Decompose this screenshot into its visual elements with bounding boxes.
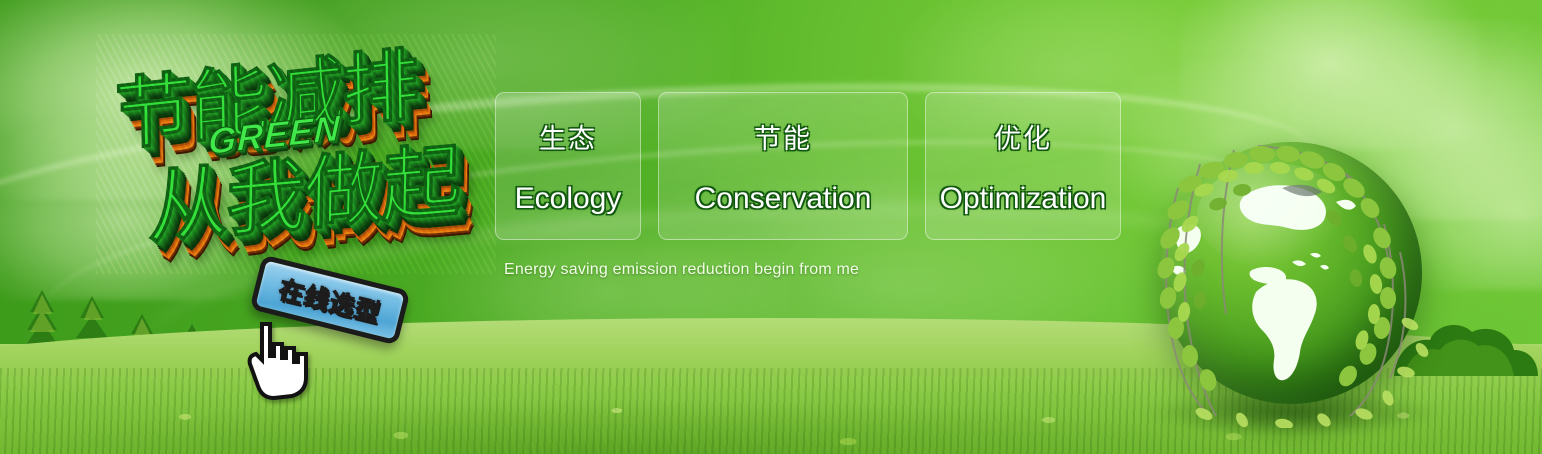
tagline-text: Energy saving emission reduction begin f… [504,261,859,279]
feature-card-cn-label: 优化 [994,117,1052,156]
feature-card-cn-label: 节能 [754,117,812,156]
feature-card-cn-label: 生态 [539,117,597,156]
feature-card-en-label: Optimization [940,182,1107,216]
feature-card-en-label: Conservation [695,182,872,216]
feature-card-en-label: Ecology [515,182,622,216]
feature-card-conservation[interactable]: 节能 Conservation [658,92,908,240]
feature-card-list: 生态 Ecology 节能 Conservation 优化 Optimizati… [495,92,1121,240]
feature-card-optimization[interactable]: 优化 Optimization [925,92,1121,240]
green-promo-banner: 节能减排 GREEN 从我做起 在线选型 生态 Ecology 节能 Conse… [0,0,1542,454]
feature-card-ecology[interactable]: 生态 Ecology [495,92,641,240]
